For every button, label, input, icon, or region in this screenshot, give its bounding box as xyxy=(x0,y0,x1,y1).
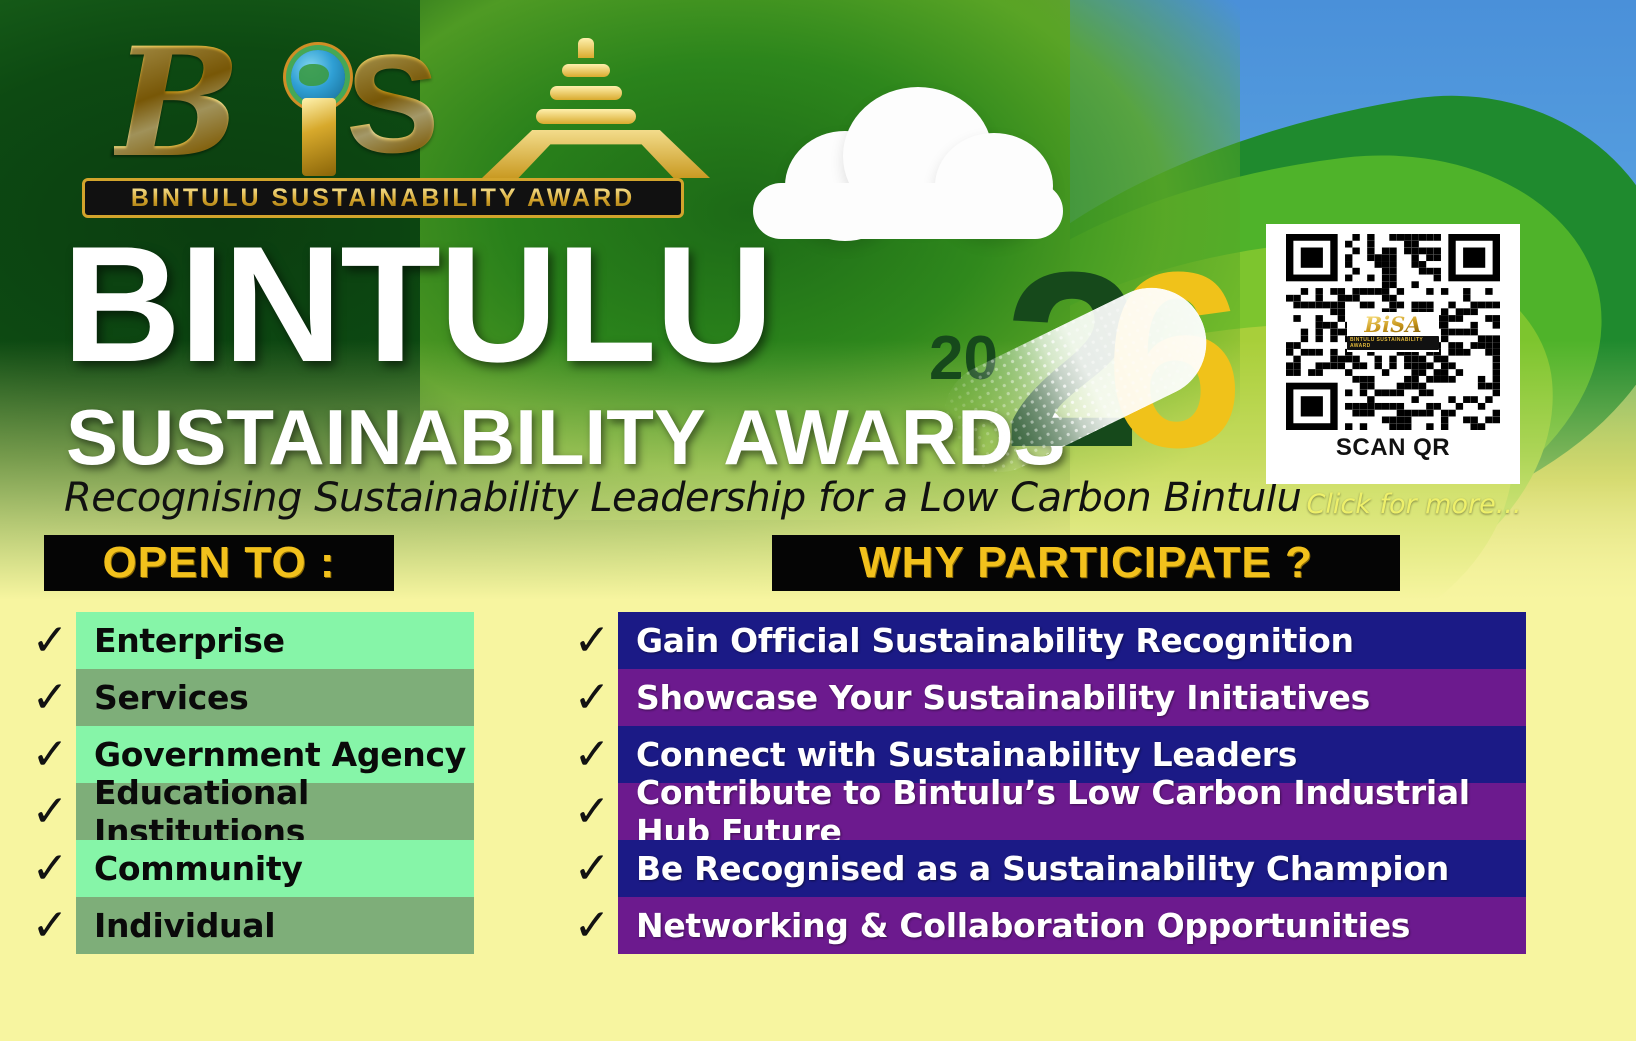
cloud-icon xyxy=(745,85,1065,235)
open-to-row-educational-institutions[interactable]: Educational Institutions xyxy=(76,783,474,840)
check-icon: ✓ xyxy=(566,790,618,834)
why-row-recognition[interactable]: Gain Official Sustainability Recognition xyxy=(618,612,1526,669)
why-participate-list: ✓ Gain Official Sustainability Recogniti… xyxy=(566,612,1526,954)
flare-ring-3 xyxy=(536,109,636,124)
logo-letter-b: B xyxy=(114,28,241,178)
why-row-showcase[interactable]: Showcase Your Sustainability Initiatives xyxy=(618,669,1526,726)
list-item-label: Networking & Collaboration Opportunities xyxy=(636,906,1410,945)
bisa-logo[interactable]: B S BINTULU SUSTAINABILITY AWARD xyxy=(78,24,678,214)
logo-mark: B S xyxy=(78,24,678,174)
globe-icon xyxy=(291,50,345,104)
check-icon: ✓ xyxy=(24,619,76,663)
check-icon: ✓ xyxy=(24,733,76,777)
list-item-label: Be Recognised as a Sustainability Champi… xyxy=(636,849,1449,888)
check-icon: ✓ xyxy=(566,619,618,663)
list-item[interactable]: ✓ Individual xyxy=(24,897,474,954)
why-row-contribute[interactable]: Contribute to Bintulu’s Low Carbon Indus… xyxy=(618,783,1526,840)
qr-logo-band: BINTULU SUSTAINABILITY AWARD xyxy=(1347,336,1439,350)
check-icon: ✓ xyxy=(24,676,76,720)
click-for-more-link[interactable]: Click for more... xyxy=(1304,489,1524,520)
year-badge: 2 6 20 xyxy=(915,245,1215,495)
qr-code-icon[interactable]: BiSA BINTULU SUSTAINABILITY AWARD xyxy=(1286,234,1500,430)
open-to-row-services[interactable]: Services xyxy=(76,669,474,726)
list-item-label: Connect with Sustainability Leaders xyxy=(636,735,1297,774)
open-to-row-community[interactable]: Community xyxy=(76,840,474,897)
qr-embedded-logo: BiSA BINTULU SUSTAINABILITY AWARD xyxy=(1347,312,1439,352)
open-to-header: OPEN TO : xyxy=(44,535,394,591)
check-icon: ✓ xyxy=(24,904,76,948)
flare-ring-2 xyxy=(550,86,622,100)
list-item-label: Community xyxy=(94,849,303,888)
check-icon: ✓ xyxy=(24,790,76,834)
open-to-row-enterprise[interactable]: Enterprise xyxy=(76,612,474,669)
open-to-list: ✓ Enterprise ✓ Services ✓ Government Age… xyxy=(24,612,474,954)
scan-qr-label: SCAN QR xyxy=(1336,434,1450,462)
poster-root: B S BINTULU SUSTAINABILITY AWARD BINTULU… xyxy=(0,0,1636,1041)
list-item-label: Government Agency xyxy=(94,735,466,774)
check-icon: ✓ xyxy=(566,847,618,891)
why-row-networking[interactable]: Networking & Collaboration Opportunities xyxy=(618,897,1526,954)
open-to-heading-text: OPEN TO : xyxy=(102,538,335,588)
list-item[interactable]: ✓ Community xyxy=(24,840,474,897)
qr-logo-text: BiSA xyxy=(1364,314,1421,335)
flare-tip xyxy=(578,38,594,58)
list-item[interactable]: ✓ Gain Official Sustainability Recogniti… xyxy=(566,612,1526,669)
flare-ring-1 xyxy=(562,64,610,77)
logo-letter-s: S xyxy=(346,34,439,174)
list-item-label: Gain Official Sustainability Recognition xyxy=(636,621,1354,660)
letter-a-base xyxy=(482,130,710,178)
list-item[interactable]: ✓ Enterprise xyxy=(24,612,474,669)
why-participate-header: WHY PARTICIPATE ? xyxy=(772,535,1400,591)
why-participate-heading-text: WHY PARTICIPATE ? xyxy=(859,538,1313,588)
logo-letter-i xyxy=(302,98,336,176)
check-icon: ✓ xyxy=(566,904,618,948)
page-title: BINTULU xyxy=(62,222,772,387)
why-row-champion[interactable]: Be Recognised as a Sustainability Champi… xyxy=(618,840,1526,897)
list-item[interactable]: ✓ Contribute to Bintulu’s Low Carbon Ind… xyxy=(566,783,1526,840)
pyramid-flare-icon xyxy=(482,38,712,178)
list-item-label: Contribute to Bintulu’s Low Carbon Indus… xyxy=(636,773,1526,851)
list-item-label: Showcase Your Sustainability Initiatives xyxy=(636,678,1370,717)
list-item[interactable]: ✓ Showcase Your Sustainability Initiativ… xyxy=(566,669,1526,726)
list-item[interactable]: ✓ Be Recognised as a Sustainability Cham… xyxy=(566,840,1526,897)
logo-band-text: BINTULU SUSTAINABILITY AWARD xyxy=(131,184,635,213)
list-item-label: Enterprise xyxy=(94,621,285,660)
check-icon: ✓ xyxy=(566,676,618,720)
list-item[interactable]: ✓ Educational Institutions xyxy=(24,783,474,840)
check-icon: ✓ xyxy=(566,733,618,777)
list-item-label: Services xyxy=(94,678,248,717)
list-item-label: Individual xyxy=(94,906,275,945)
open-to-row-individual[interactable]: Individual xyxy=(76,897,474,954)
check-icon: ✓ xyxy=(24,847,76,891)
list-item[interactable]: ✓ Services xyxy=(24,669,474,726)
qr-card[interactable]: BiSA BINTULU SUSTAINABILITY AWARD SCAN Q… xyxy=(1266,224,1520,484)
list-item[interactable]: ✓ Networking & Collaboration Opportuniti… xyxy=(566,897,1526,954)
list-item-label: Educational Institutions xyxy=(94,773,474,851)
